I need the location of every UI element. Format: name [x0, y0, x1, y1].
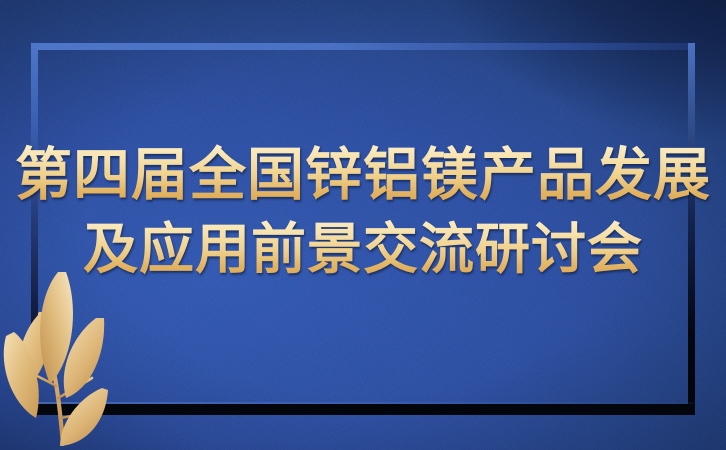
- frame-top-edge: [31, 43, 695, 50]
- poster-title: 第四届全国锌铝镁产品发展 及应用前景交流研讨会: [0, 140, 726, 284]
- frame-bottom-edge: [31, 404, 695, 415]
- conference-title-poster: 第四届全国锌铝镁产品发展 及应用前景交流研讨会: [0, 0, 726, 450]
- title-line-2: 及应用前景交流研讨会: [0, 214, 726, 284]
- title-line-1: 第四届全国锌铝镁产品发展: [0, 140, 726, 210]
